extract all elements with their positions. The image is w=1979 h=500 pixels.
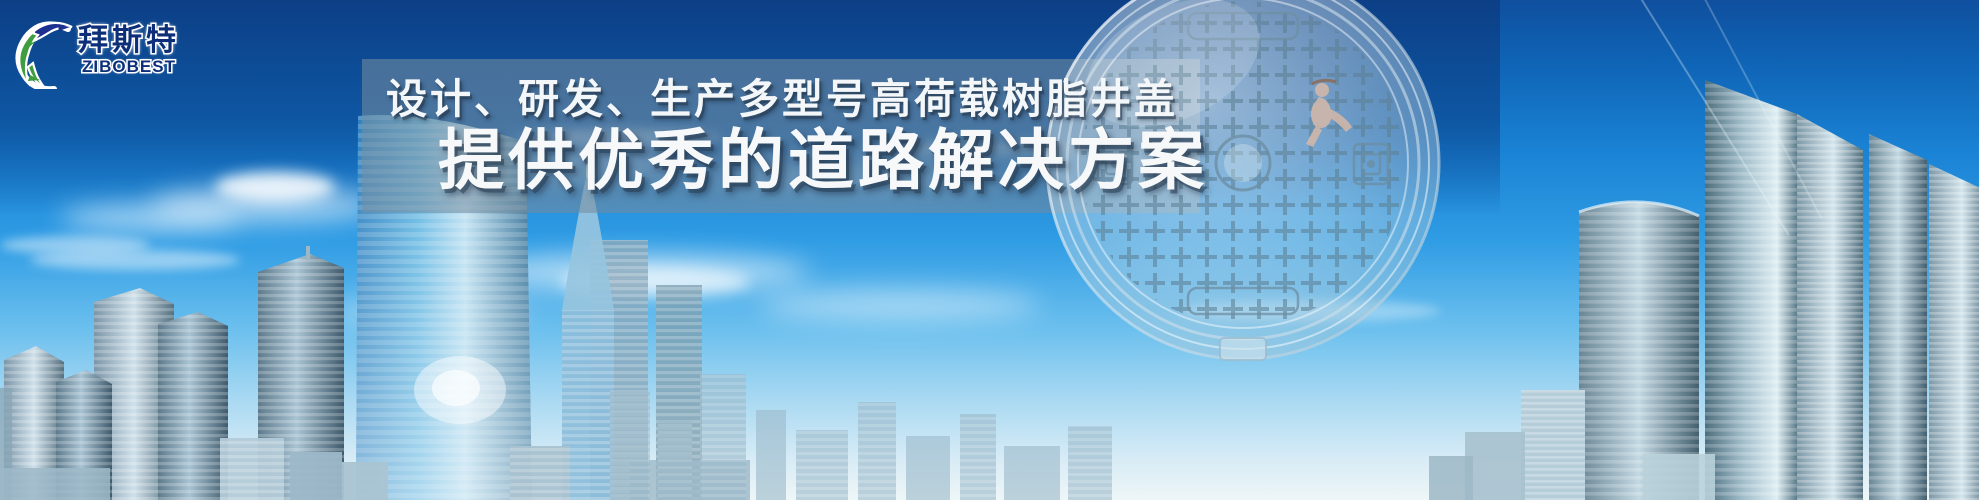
logo-chinese-name: 拜斯特 — [78, 26, 180, 56]
headline-line-1: 设计、研发、生产多型号高荷载树脂井盖 — [386, 78, 1462, 121]
promo-banner: 设计、研发、生产多型号高荷载树脂井盖 提供优秀的道路解决方案 拜 — [0, 0, 1979, 500]
zibobest-c-swoosh-logo-icon — [8, 11, 86, 89]
logo-english-name: ZIBOBEST — [82, 58, 176, 75]
headline-line-2: 提供优秀的道路解决方案 — [438, 127, 1462, 194]
headline-block: 设计、研发、生产多型号高荷载树脂井盖 提供优秀的道路解决方案 — [362, 59, 1462, 213]
company-logo[interactable]: 拜斯特 ZIBOBEST — [8, 6, 218, 94]
logo-wordmark: 拜斯特 ZIBOBEST — [78, 26, 180, 75]
